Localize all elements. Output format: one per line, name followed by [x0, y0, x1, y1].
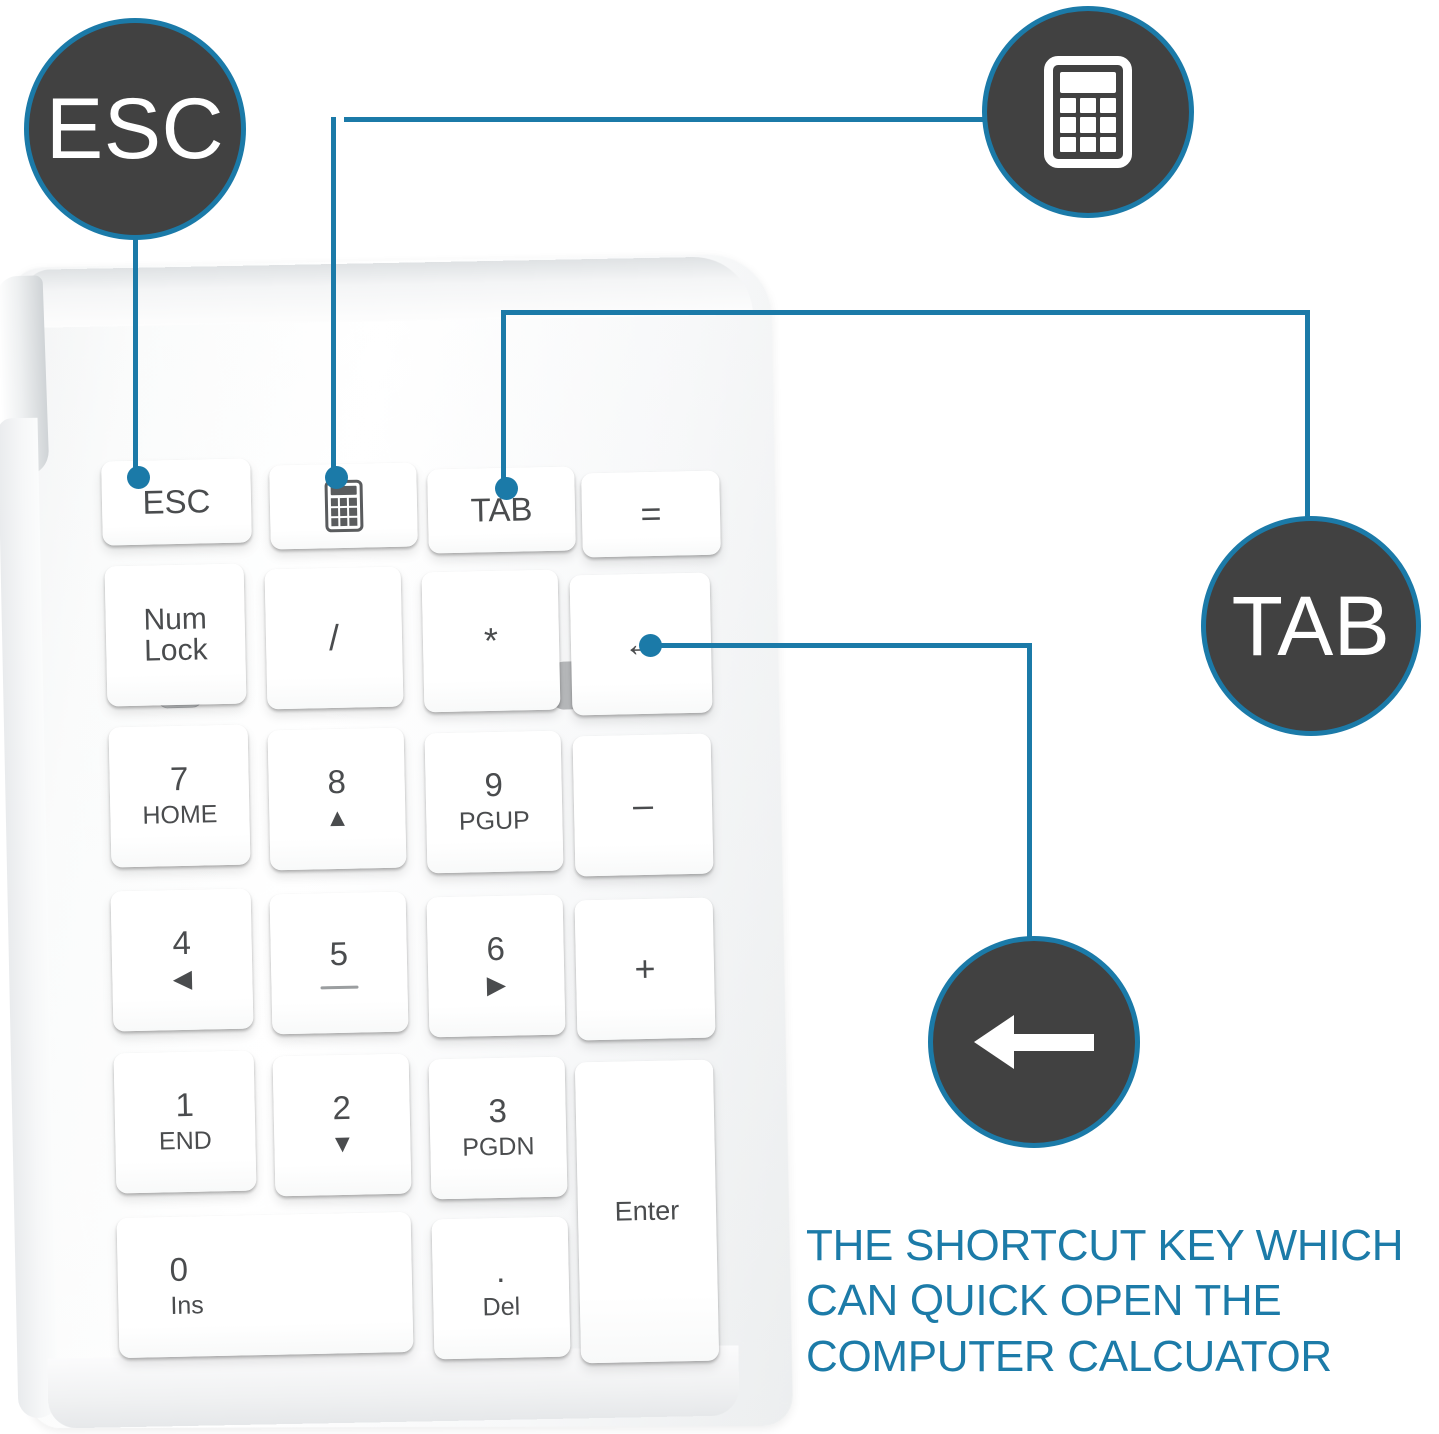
connector-dot-backspace	[639, 634, 662, 657]
key-8-label: 8	[327, 765, 346, 800]
key-5[interactable]: 5	[270, 892, 409, 1035]
key-1-label: 1	[175, 1088, 194, 1123]
key-6[interactable]: 6 ▶	[427, 895, 566, 1038]
key-1[interactable]: 1 END	[114, 1051, 257, 1194]
numlock-key-label2: Lock	[144, 634, 208, 667]
divide-key[interactable]: /	[265, 567, 404, 710]
key-3-label: 3	[488, 1094, 507, 1129]
esc-key-label: ESC	[142, 484, 211, 520]
callout-tab: TAB	[1201, 516, 1421, 736]
callout-tab-label: TAB	[1232, 584, 1391, 668]
connector-calc-horizontal	[344, 117, 992, 122]
enter-key-label: Enter	[614, 1197, 679, 1226]
callout-calculator	[982, 6, 1194, 218]
key-7-label: 7	[170, 762, 189, 797]
plus-key-label: +	[634, 951, 656, 987]
equals-key-label: =	[640, 496, 662, 532]
key-2[interactable]: 2 ▼	[273, 1054, 412, 1197]
connector-dot-tab	[495, 477, 518, 500]
key-2-label: 2	[332, 1091, 351, 1126]
connector-tab-vertical-left	[501, 310, 506, 491]
numlock-key-label: Num	[143, 603, 207, 636]
minus-key-label: –	[633, 787, 654, 823]
connector-tab-vertical-right	[1305, 310, 1310, 525]
arrow-right-icon: ▶	[487, 972, 507, 1000]
plus-key[interactable]: +	[575, 898, 716, 1041]
minus-key[interactable]: –	[573, 734, 714, 877]
homing-bar	[320, 985, 358, 989]
decimal-key-sublabel: Del	[482, 1294, 520, 1322]
caption-line-1: THE SHORTCUT KEY WHICH	[806, 1218, 1436, 1273]
arrow-left-icon: ◀	[173, 966, 193, 994]
multiply-key-label: *	[484, 623, 499, 659]
connector-backspace-vertical	[1027, 643, 1032, 963]
divide-key-label: /	[329, 620, 340, 656]
arrow-down-icon: ▼	[330, 1131, 355, 1159]
caption-line-2: CAN QUICK OPEN THE	[806, 1273, 1436, 1328]
key-7[interactable]: 7 HOME	[109, 725, 251, 868]
key-0-label: 0	[169, 1253, 188, 1288]
multiply-key[interactable]: *	[422, 570, 561, 713]
connector-tab-horizontal	[501, 310, 1310, 315]
key-9-label: 9	[484, 768, 503, 803]
calculator-icon	[1044, 56, 1132, 168]
key-matrix: ESC TAB = Num Lock /	[8, 268, 763, 1428]
connector-esc-vertical	[133, 214, 138, 480]
callout-esc: ESC	[24, 18, 246, 240]
numlock-key[interactable]: Num Lock	[105, 564, 247, 707]
key-8[interactable]: 8 ▲	[268, 728, 407, 871]
infographic-canvas: ESC TAB 1 Foloda ESC	[0, 0, 1439, 1434]
callout-backspace	[928, 936, 1140, 1148]
equals-key[interactable]: =	[581, 471, 721, 558]
numeric-keypad-device: 1 Foloda ESC TAB =	[8, 268, 763, 1428]
key-9-sublabel: PGUP	[459, 808, 530, 837]
esc-key[interactable]: ESC	[101, 458, 252, 545]
key-5-label: 5	[329, 937, 348, 972]
key-0-sublabel: Ins	[170, 1293, 204, 1321]
decimal-key-label: .	[496, 1254, 506, 1288]
arrow-up-icon: ▲	[325, 805, 350, 833]
key-6-label: 6	[486, 932, 505, 967]
key-4[interactable]: 4 ◀	[111, 889, 254, 1032]
caption-text: THE SHORTCUT KEY WHICH CAN QUICK OPEN TH…	[806, 1218, 1436, 1384]
key-0[interactable]: 0 Ins	[117, 1212, 414, 1358]
enter-key[interactable]: Enter	[575, 1060, 719, 1364]
connector-backspace-horizontal	[650, 643, 1032, 648]
connector-calc-vertical	[331, 117, 336, 479]
callout-esc-label: ESC	[46, 86, 224, 172]
key-1-sublabel: END	[159, 1128, 212, 1157]
connector-dot-esc	[127, 466, 150, 489]
key-4-label: 4	[172, 926, 191, 961]
key-3[interactable]: 3 PGDN	[429, 1057, 568, 1200]
connector-dot-calc	[325, 466, 348, 489]
calculator-icon	[324, 480, 363, 533]
decimal-key[interactable]: . Del	[432, 1217, 571, 1360]
key-9[interactable]: 9 PGUP	[425, 731, 564, 874]
left-arrow-icon	[974, 1015, 1094, 1069]
caption-line-3: COMPUTER CALCUATOR	[806, 1329, 1436, 1384]
key-7-sublabel: HOME	[142, 802, 218, 831]
key-3-sublabel: PGDN	[462, 1134, 535, 1163]
